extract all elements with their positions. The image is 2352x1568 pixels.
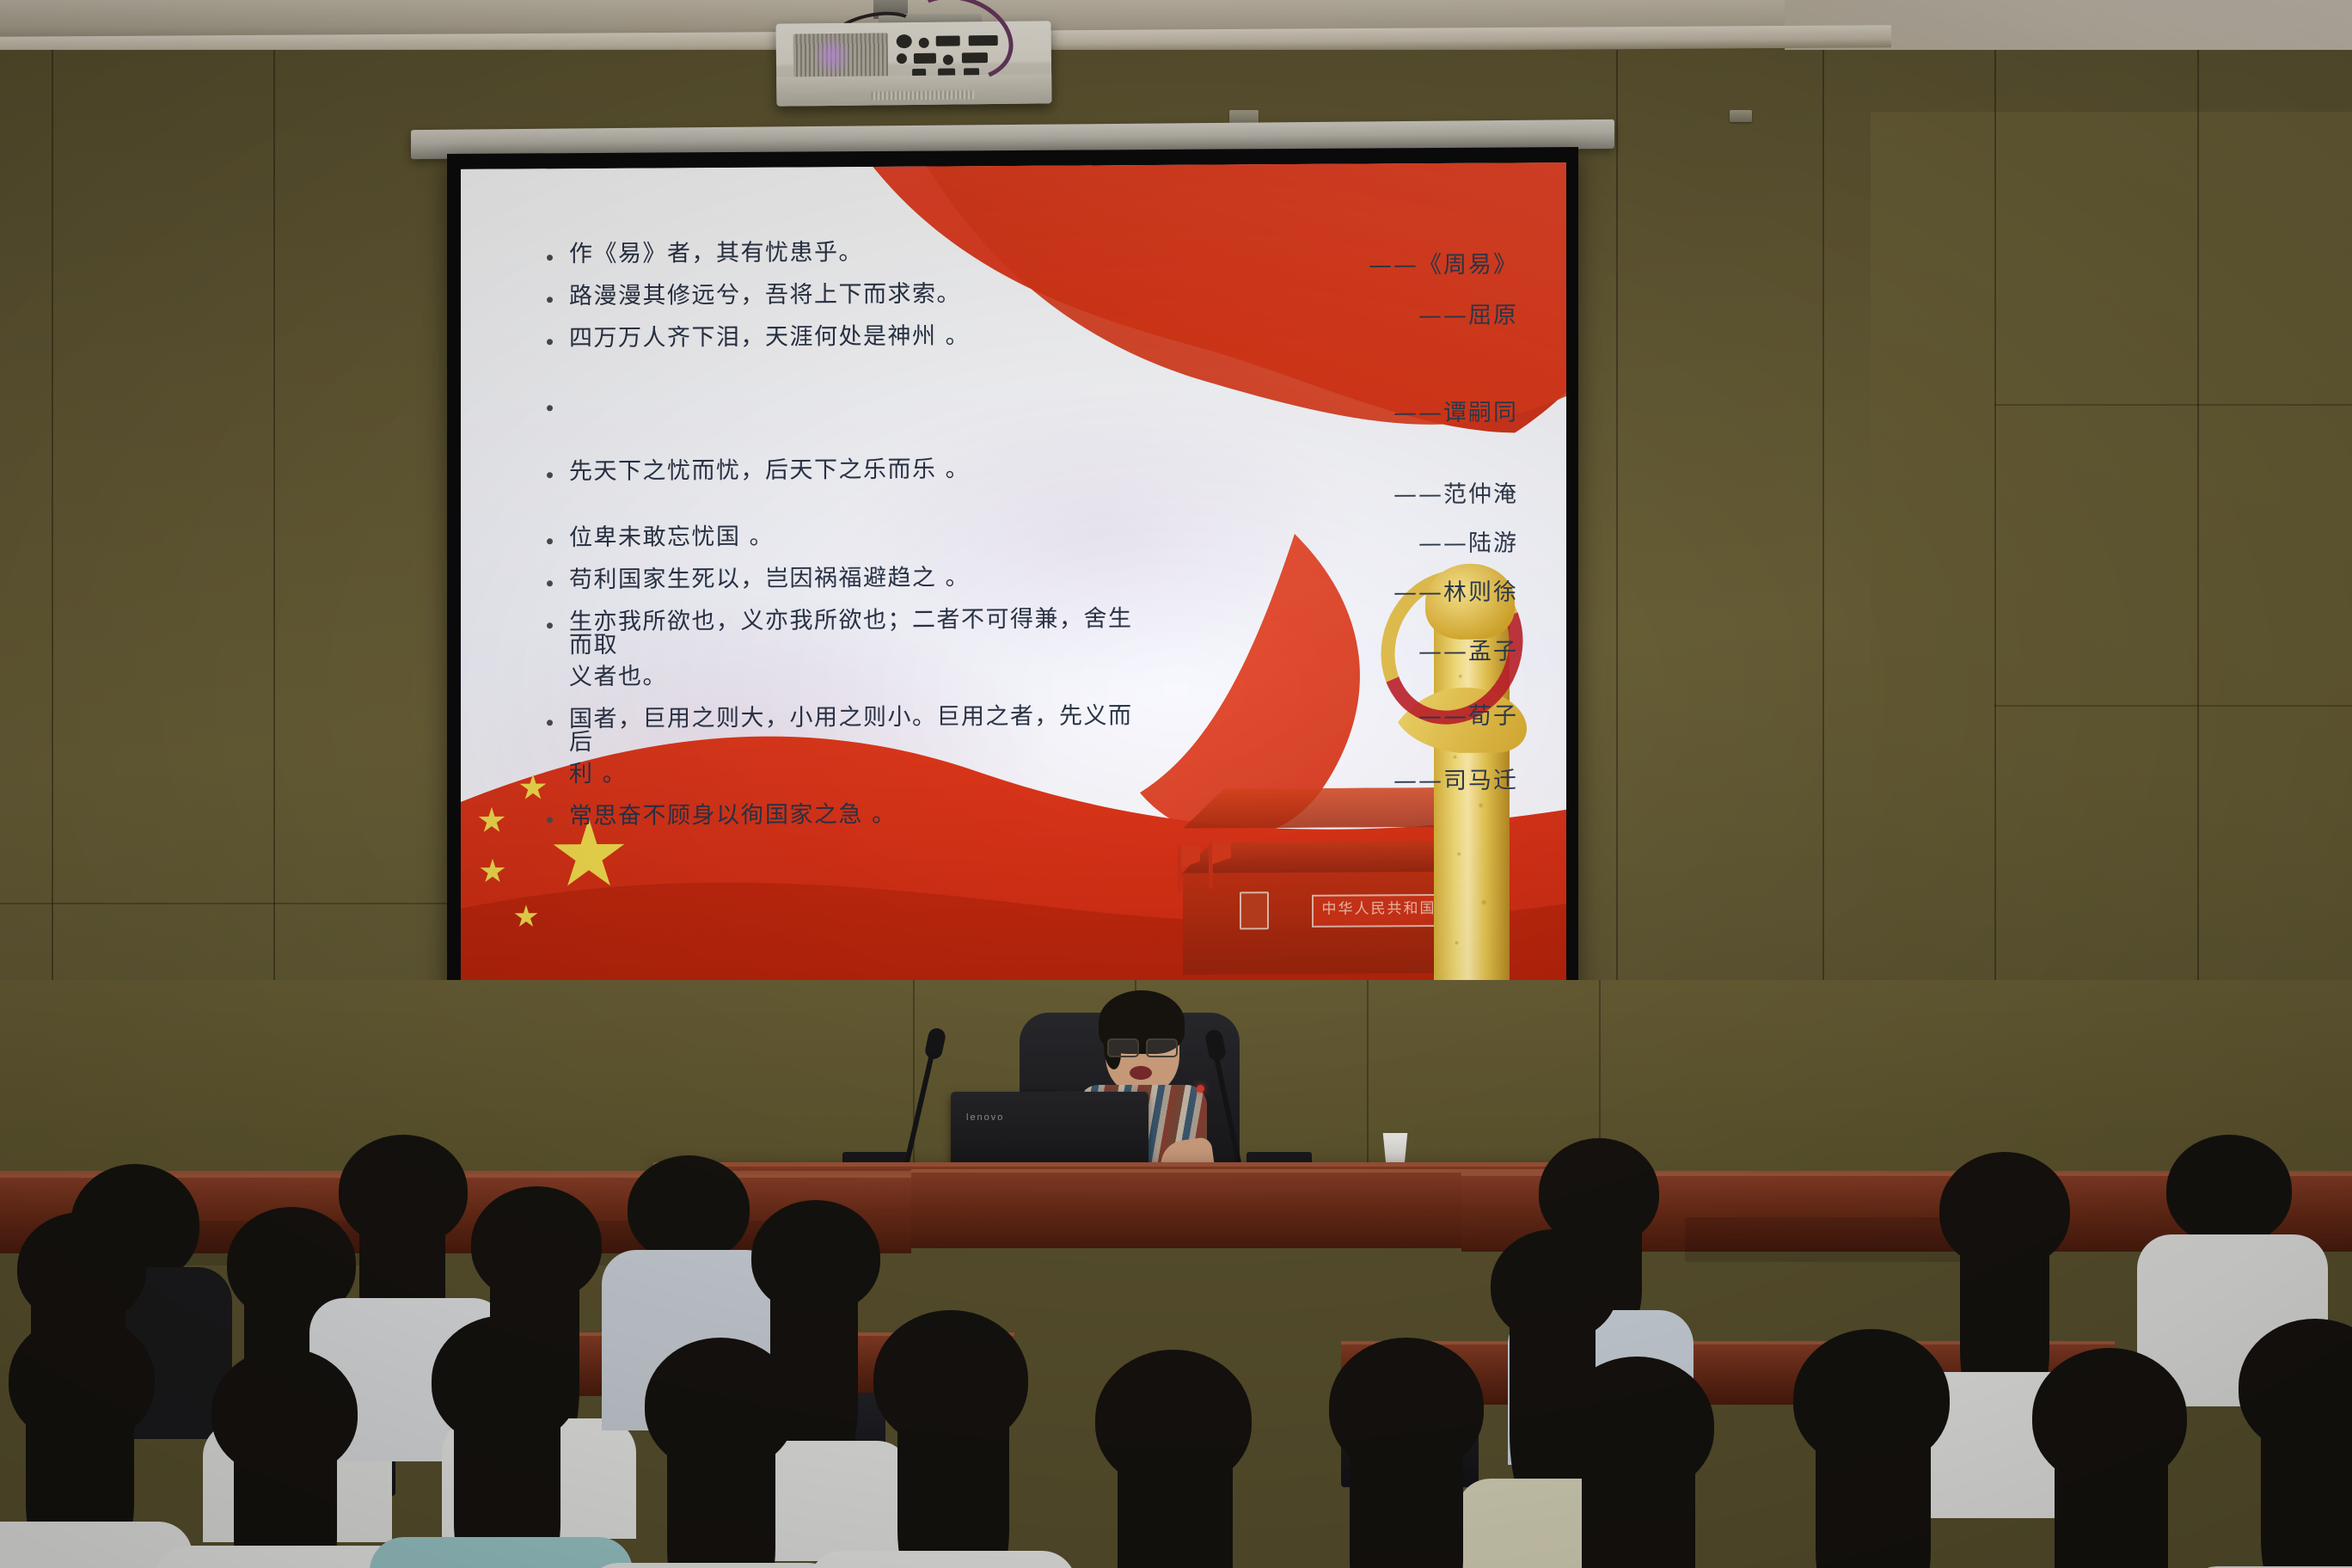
laptop-brand-label: lenovo [966,1112,1004,1123]
projector-vent-grill [793,33,889,78]
slide-bullet: 路漫漫其修远兮，吾将上下而求索。 [540,281,1142,308]
slide-bullet: 四万万人齐下泪，天涯何处是神州 。 [540,323,1142,350]
projection-screen-frame: 中华人民共和国万岁 作《易》者，其有忧患乎。 [447,147,1578,1003]
audience-member [155,1348,404,1568]
wall-panel-seam [1994,705,2352,707]
slide-bullet: 作《易》者，其有忧患乎。 [540,239,1142,266]
microphone-status-led [1197,1085,1204,1093]
slide-attribution: ——荀子 [1140,696,1518,732]
audience-member [1728,1329,1986,1568]
slide-bullet: 苟利国家生死以，岂因祸福避趋之 。 [540,565,1142,591]
slide-attribution: ——孟子 [1140,632,1518,668]
slide-bullet: 常思奋不顾身以徇国家之急 。 [540,801,1142,828]
audience-member [1496,1357,1754,1568]
lecture-hall-photo: 中华人民共和国万岁 作《易》者，其有忧患乎。 [0,0,2352,1568]
projector-intake-slot [871,90,974,100]
audience-member [808,1310,1066,1568]
presenter-mouth [1130,1066,1152,1080]
slide-attribution: ——林则徐 [1140,573,1518,609]
slide-bullet: 位卑未敢忘忧国 。 [540,523,1142,549]
wall-panel-seam [0,903,447,904]
audience-member [1032,1350,1289,1568]
slide-bullet: 国者，巨用之则大，小用之则小。巨用之者，先义而后 利 。 [540,704,1142,786]
slide-bullet: 生亦我所欲也，义亦我所欲也；二者不可得兼，舍生而取 义者也。 [540,607,1142,689]
slide-attribution: ——范仲淹 [1140,475,1518,511]
slide-bullet: 先天下之忧而忧，后天下之乐而乐 。 [540,456,1142,483]
audience-member [2184,1319,2352,1568]
audience-member [585,1338,834,1568]
projector-body-lower [776,74,1051,106]
slide-attribution: ——《周易》 [1140,245,1518,281]
audience-member [1264,1338,1522,1568]
slide-canvas: 中华人民共和国万岁 作《易》者，其有忧患乎。 [461,162,1566,989]
slide-bullet-list: 作《易》者，其有忧患乎。 路漫漫其修远兮，吾将上下而求索。 四万万人齐下泪，天涯… [540,239,1142,847]
slide-attribution: ——谭嗣同 [1140,393,1518,429]
wall-vent [1730,110,1752,122]
slide-attribution: ——屈原 [1140,296,1518,332]
slide-attribution-list: ——《周易》 ——屈原 ——谭嗣同 ——范仲淹 ——陆游 ——林则徐 ——孟子 … [1140,245,1518,804]
projection-screen-surface: 中华人民共和国万岁 作《易》者，其有忧患乎。 [461,162,1566,989]
audience-member [378,1315,619,1568]
audience-area [0,1135,2352,1568]
slide-attribution: ——司马迁 [1140,761,1518,797]
slide-bullet-empty [540,389,1142,417]
glasses-icon [1107,1038,1178,1054]
wall-panel-seam [1994,404,2352,406]
slide-attribution: ——陆游 [1140,524,1518,560]
gate-portrait [1240,891,1269,929]
